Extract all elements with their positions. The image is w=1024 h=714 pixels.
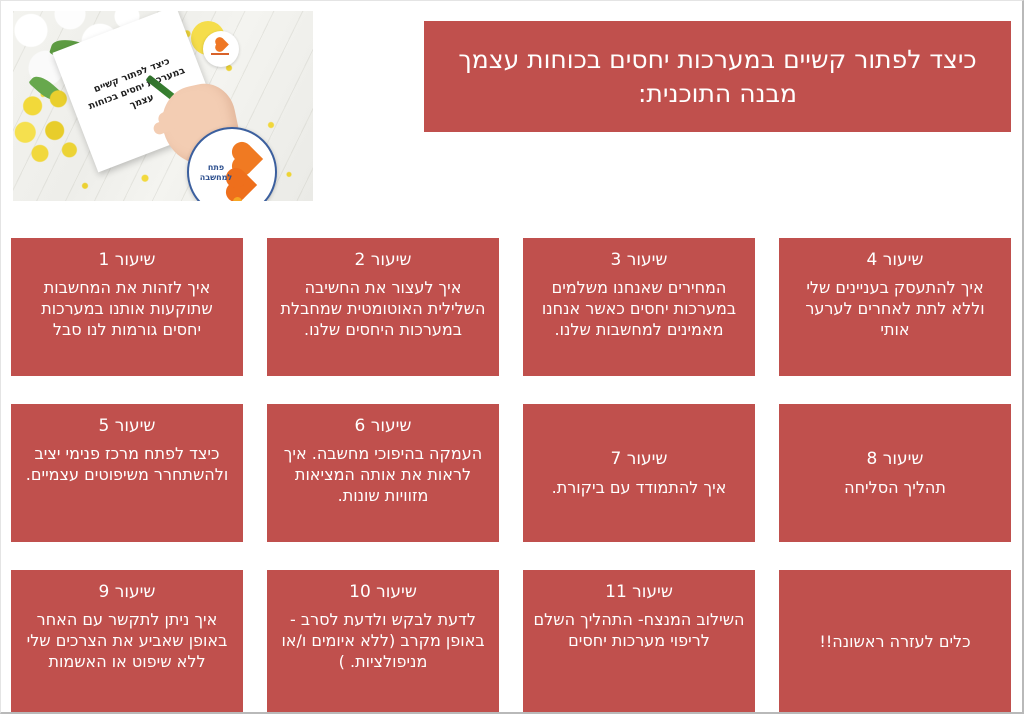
- lesson-number: שיעור 4: [867, 250, 924, 271]
- brand-logo-text: פתח למחשבה: [199, 163, 233, 184]
- divider: [211, 53, 229, 55]
- lesson-description: העמקה בהיפוכי מחשבה. איך לראות את אותה ה…: [277, 444, 489, 506]
- lesson-card[interactable]: שיעור 9 איך ניתן לתקשר עם האחר באופן שאב…: [11, 570, 243, 712]
- lesson-number: שיעור 10: [349, 582, 417, 603]
- lesson-description: המחירים שאנחנו משלמים במערכות יחסים כאשר…: [533, 278, 745, 340]
- lesson-card[interactable]: שיעור 7 איך להתמודד עם ביקורת.: [523, 404, 755, 542]
- lesson-number: שיעור 11: [605, 582, 673, 603]
- lesson-description: כיצד לפתח מרכז פנימי יציב ולהשתחרר משיפו…: [21, 444, 233, 486]
- lesson-number: שיעור 8: [867, 449, 924, 470]
- lesson-description: השילוב המנצח- התהליך השלם לריפוי מערכות …: [533, 610, 745, 652]
- lesson-card[interactable]: שיעור 10 לדעת לבקש ולדעת לסרב - באופן מק…: [267, 570, 499, 712]
- lesson-card[interactable]: שיעור 11 השילוב המנצח- התהליך השלם לריפו…: [523, 570, 755, 712]
- lesson-card[interactable]: כלים לעזרה ראשונה!!: [779, 570, 1011, 712]
- lesson-number: שיעור 6: [355, 416, 412, 437]
- lesson-grid: שיעור 4 איך להתעסק בעניינים שלי וללא לתת…: [14, 238, 1011, 712]
- lesson-description: איך להתמודד עם ביקורת.: [552, 478, 727, 499]
- lesson-number: שיעור 3: [611, 250, 668, 271]
- lesson-card[interactable]: שיעור 4 איך להתעסק בעניינים שלי וללא לתת…: [779, 238, 1011, 376]
- lesson-card[interactable]: שיעור 6 העמקה בהיפוכי מחשבה. איך לראות א…: [267, 404, 499, 542]
- lesson-number: שיעור 2: [355, 250, 412, 271]
- lesson-number: שיעור 7: [611, 449, 668, 470]
- lesson-card[interactable]: שיעור 8 תהליך הסליחה: [779, 404, 1011, 542]
- lesson-description: איך לזהות את המחשבות שתוקעות אותנו במערכ…: [21, 278, 233, 340]
- lesson-card[interactable]: שיעור 2 איך לעצור את החשיבה השלילית האוט…: [267, 238, 499, 376]
- lesson-card[interactable]: שיעור 3 המחירים שאנחנו משלמים במערכות יח…: [523, 238, 755, 376]
- lesson-number: שיעור 5: [99, 416, 156, 437]
- lesson-card[interactable]: שיעור 5 כיצד לפתח מרכז פנימי יציב ולהשתח…: [11, 404, 243, 542]
- lesson-description: כלים לעזרה ראשונה!!: [819, 632, 970, 653]
- header-banner: כיצד לפתור קשיים במערכות יחסים בכוחות עצ…: [424, 21, 1011, 132]
- lesson-description: איך לעצור את החשיבה השלילית האוטומטית שמ…: [277, 278, 489, 340]
- hero-photo: כיצד לפתור קשיים במערכות יחסים בכוחות עצ…: [13, 11, 313, 201]
- lesson-description: איך להתעסק בעניינים שלי וללא לתת לאחרים …: [789, 278, 1001, 340]
- lesson-card[interactable]: שיעור 1 איך לזהות את המחשבות שתוקעות אות…: [11, 238, 243, 376]
- lesson-description: איך ניתן לתקשר עם האחר באופן שאביע את הצ…: [21, 610, 233, 672]
- page-title: כיצד לפתור קשיים במערכות יחסים בכוחות עצ…: [442, 43, 993, 110]
- presentation-slide: כיצד לפתור קשיים במערכות יחסים בכוחות עצ…: [0, 0, 1024, 714]
- lesson-number: שיעור 1: [99, 250, 156, 271]
- lesson-description: לדעת לבקש ולדעת לסרב - באופן מקרב (ללא א…: [277, 610, 489, 672]
- small-logo-sticker-icon: [203, 31, 239, 67]
- hero-image: כיצד לפתור קשיים במערכות יחסים בכוחות עצ…: [1, 1, 313, 201]
- lesson-number: שיעור 9: [99, 582, 156, 603]
- heart-icon: [216, 38, 229, 51]
- lesson-description: תהליך הסליחה: [844, 478, 946, 499]
- heart-icon: [229, 171, 257, 199]
- dot-icon: [233, 197, 242, 201]
